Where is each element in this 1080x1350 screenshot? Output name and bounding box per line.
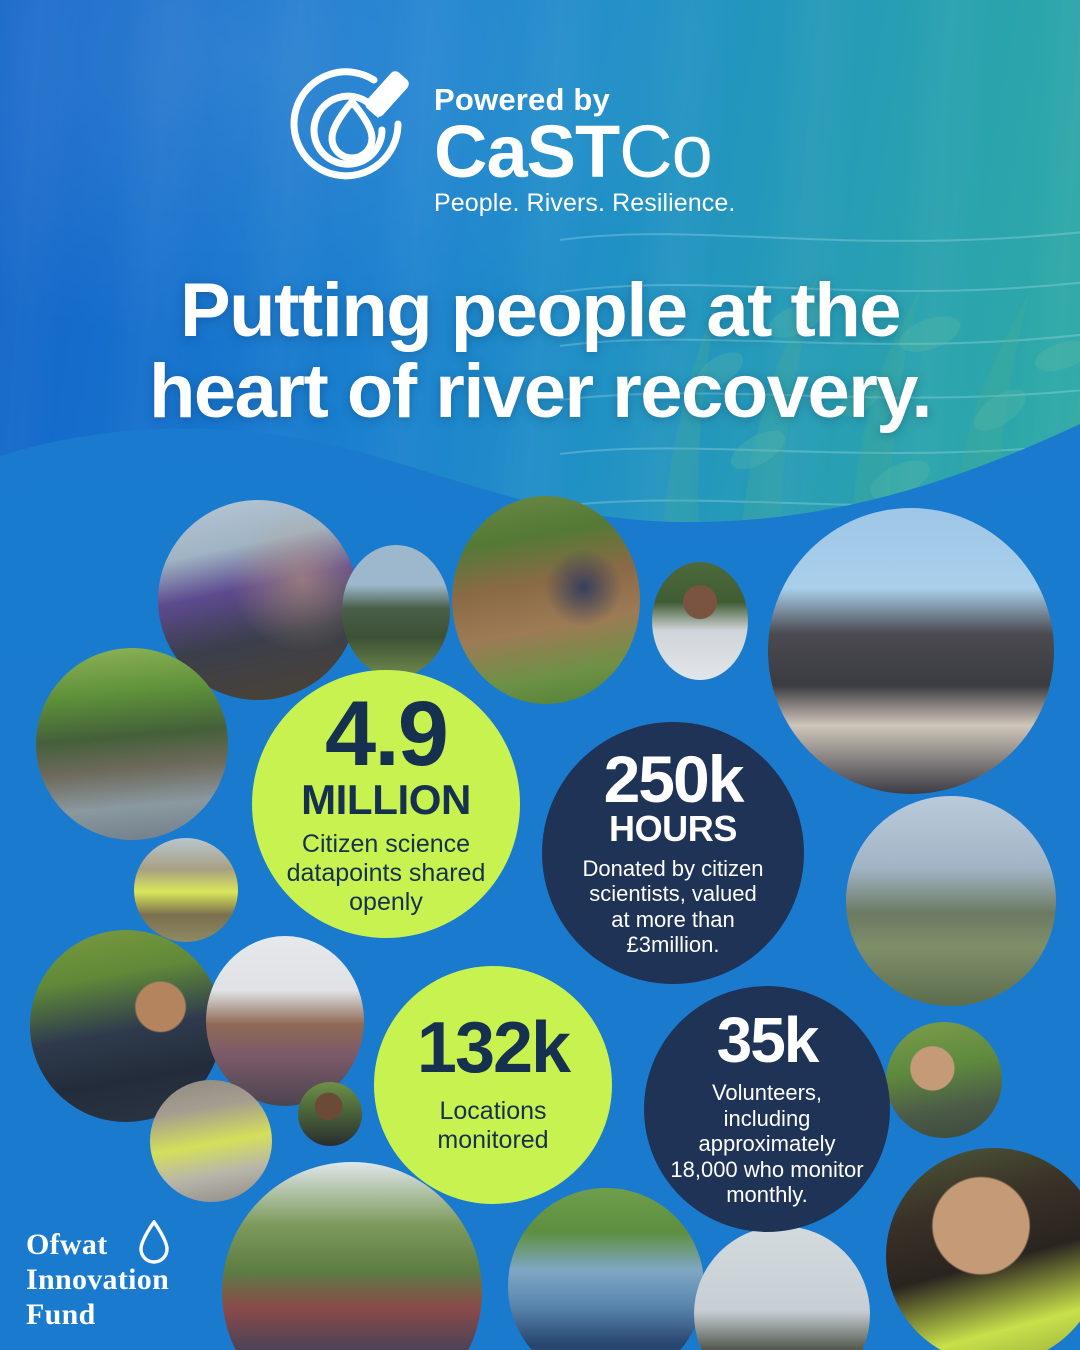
castco-light: Co <box>619 110 712 193</box>
headline-line-1: Putting people at the <box>0 270 1080 351</box>
stat-bubble-volunteers: 35k Volunteers, including approximately … <box>644 986 890 1232</box>
photo-circle <box>886 1148 1080 1350</box>
stat-value: 132k <box>417 1015 569 1083</box>
photo-circle <box>508 1188 704 1350</box>
stat-description: Citizen science datapoints shared openly <box>286 830 486 917</box>
stat-value: 4.9 <box>325 691 447 777</box>
target-droplet-pipette-icon <box>288 62 416 190</box>
photo-circle <box>298 1082 362 1146</box>
stat-bubble-locations: 132k Locations monitored <box>374 966 612 1204</box>
stat-value: 250k <box>604 748 743 810</box>
photo-circle <box>134 838 238 942</box>
brand-logo: Powered by CaSTCo People. Rivers. Resili… <box>288 62 735 218</box>
stat-unit: HOURS <box>609 811 737 848</box>
brand-tagline: People. Rivers. Resilience. <box>434 189 735 218</box>
ofwat-line-3: Fund <box>26 1298 169 1333</box>
brand-wordmark: Powered by CaSTCo People. Rivers. Resili… <box>434 62 735 218</box>
stat-bubble-datapoints: 4.9 MILLION Citizen science datapoints s… <box>252 670 520 938</box>
photo-circle <box>768 508 1054 794</box>
ofwat-line-2: Innovation <box>26 1263 169 1298</box>
photo-circle <box>452 496 640 704</box>
stat-description: Volunteers, including approximately 18,0… <box>666 1080 868 1208</box>
photo-circle <box>694 1226 870 1350</box>
ofwat-innovation-fund-logo: Ofwat Innovation Fund <box>26 1228 169 1332</box>
castco-wordmark: CaSTCo <box>434 117 735 187</box>
page-title: Putting people at the heart of river rec… <box>0 270 1080 433</box>
stat-description: Locations monitored <box>406 1097 580 1155</box>
poster-canvas: Powered by CaSTCo People. Rivers. Resili… <box>0 0 1080 1350</box>
stat-unit: MILLION <box>301 779 471 822</box>
photo-circle <box>886 1022 1002 1138</box>
stat-bubble-hours: 250k HOURS Donated by citizen scientists… <box>542 722 804 984</box>
photo-circle <box>846 796 1056 1006</box>
stat-description: Donated by citizen scientists, valued at… <box>580 856 766 958</box>
photo-circle <box>150 1080 272 1202</box>
photo-circle <box>342 545 450 677</box>
photo-circle <box>36 648 228 840</box>
castco-bold: CaST <box>434 110 619 193</box>
photo-circle <box>652 562 748 680</box>
water-droplet-icon <box>138 1220 170 1264</box>
headline-line-2: heart of river recovery. <box>0 351 1080 432</box>
photo-circle <box>206 936 364 1106</box>
stat-value: 35k <box>717 1010 818 1070</box>
